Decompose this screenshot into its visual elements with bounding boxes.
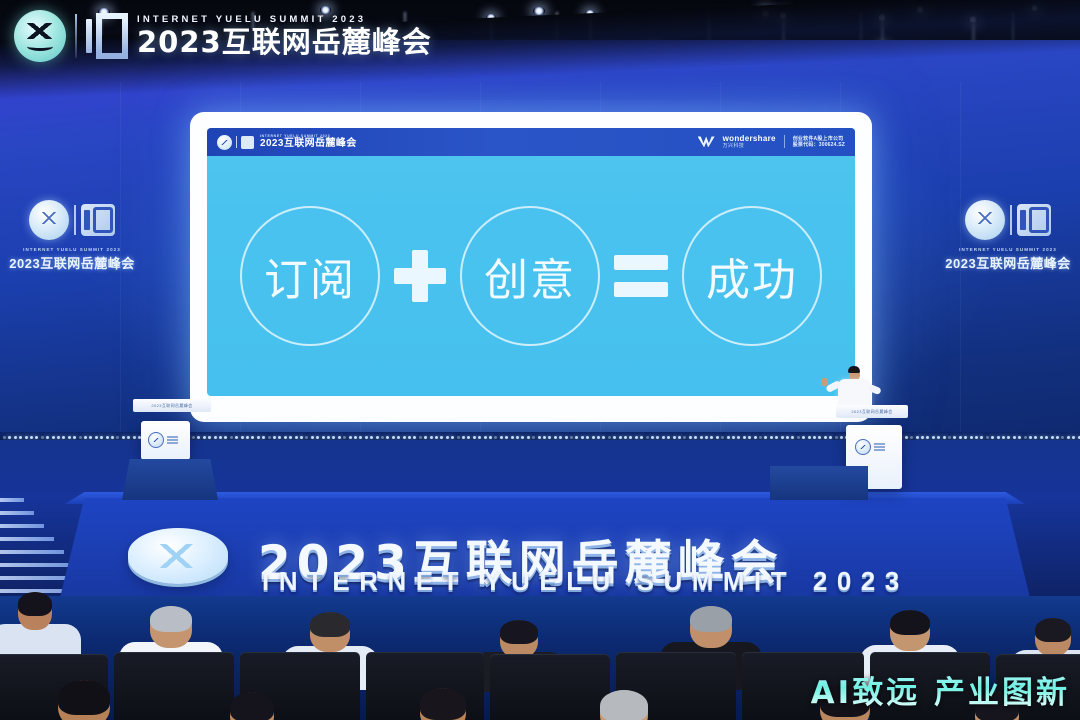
led-dot — [192, 436, 195, 439]
led-dot — [57, 436, 60, 439]
led-dot — [14, 436, 17, 439]
slide-banner-cn: 2023互联网岳麓峰会 — [260, 139, 357, 149]
led-dot — [354, 436, 357, 439]
led-dot — [662, 436, 665, 439]
equation-term-1-label: 订阅 — [264, 244, 356, 308]
slide-equation: 订阅 创意 成功 — [207, 156, 855, 396]
side-panel-cn-right: 2023互联网岳麓峰会 — [944, 253, 1072, 272]
right-podium-base — [770, 466, 868, 500]
left-podium-emblem — [148, 432, 178, 448]
side-panel-en-left: INTERNET YUELU SUMMIT 2023 — [8, 247, 136, 252]
led-dot — [678, 436, 681, 439]
led-dot — [1051, 436, 1054, 439]
led-dot — [937, 436, 940, 439]
led-dot — [791, 436, 794, 439]
logo-emblem-right — [944, 200, 1072, 240]
led-dot — [403, 436, 406, 439]
led-dot — [764, 436, 767, 439]
led-dot — [527, 436, 530, 439]
led-dot — [910, 436, 913, 439]
led-dot — [835, 436, 838, 439]
led-dot — [19, 436, 22, 439]
led-dot — [597, 436, 600, 439]
led-dot — [926, 436, 929, 439]
led-dot — [656, 436, 659, 439]
led-dot — [646, 436, 649, 439]
led-dot — [500, 436, 503, 439]
led-dot — [608, 436, 611, 439]
led-dot — [1034, 436, 1037, 439]
led-dot — [781, 436, 784, 439]
led-dot — [905, 436, 908, 439]
side-panel-cn-left: 2023互联网岳麓峰会 — [8, 253, 136, 272]
led-dot — [624, 436, 627, 439]
led-dot — [246, 436, 249, 439]
led-dot — [413, 436, 416, 439]
led-dot — [1067, 436, 1070, 439]
led-dot — [359, 436, 362, 439]
led-dot — [295, 436, 298, 439]
led-dot — [797, 436, 800, 439]
led-dot — [419, 436, 422, 439]
led-dot — [268, 436, 271, 439]
ten-anniversary-icon — [241, 136, 254, 149]
mountain-circle-icon — [29, 200, 69, 240]
led-dot — [122, 436, 125, 439]
led-dot — [316, 436, 319, 439]
led-dot — [1040, 436, 1043, 439]
watermark-text: AI致远 产业图新 — [811, 667, 1070, 712]
led-dot — [991, 436, 994, 439]
led-dot — [116, 436, 119, 439]
led-dot — [824, 436, 827, 439]
led-dot — [592, 436, 595, 439]
sponsor-stock-block: 创业软件A股上市公司 股票代码：300624.SZ — [793, 136, 845, 149]
led-dot — [100, 436, 103, 439]
audience-member-hair — [690, 606, 732, 632]
led-dot — [953, 436, 956, 439]
led-dot — [921, 436, 924, 439]
left-podium — [141, 421, 190, 460]
equation-term-3-label: 成功 — [706, 244, 798, 308]
led-dot — [338, 436, 341, 439]
led-dot — [732, 436, 735, 439]
stair-step — [0, 524, 44, 528]
led-dot — [289, 436, 292, 439]
divider — [236, 136, 237, 148]
right-podium-sign: 2023互联网岳麓峰会 — [836, 405, 908, 418]
overlay-brand-en: INTERNET YUELU SUMMIT 2023 — [137, 15, 432, 25]
audience-member-hair — [150, 606, 192, 632]
led-dot — [89, 436, 92, 439]
sponsor-note-line2: 股票代码：300624.SZ — [793, 142, 845, 148]
led-dot — [532, 436, 535, 439]
led-dot — [478, 436, 481, 439]
led-dot — [1018, 436, 1021, 439]
ten-anniversary-icon — [81, 204, 115, 236]
led-dot — [997, 436, 1000, 439]
led-dot — [802, 436, 805, 439]
led-dot — [219, 436, 222, 439]
led-dot — [554, 436, 557, 439]
mountain-circle-icon — [148, 432, 164, 448]
led-dot — [948, 436, 951, 439]
led-dot — [1061, 436, 1064, 439]
led-dot — [451, 436, 454, 439]
led-dot — [548, 436, 551, 439]
led-dot — [975, 436, 978, 439]
led-dot — [273, 436, 276, 439]
led-dot — [127, 436, 130, 439]
led-dot — [775, 436, 778, 439]
led-dot — [986, 436, 989, 439]
side-panel-logo-left: INTERNET YUELU SUMMIT 2023 2023互联网岳麓峰会 — [8, 200, 136, 272]
led-dot — [8, 436, 11, 439]
side-panel-en-right: INTERNET YUELU SUMMIT 2023 — [944, 247, 1072, 252]
led-dot — [381, 436, 384, 439]
equation-term-2: 创意 — [460, 206, 600, 346]
led-dot — [581, 436, 584, 439]
led-dot — [230, 436, 233, 439]
led-dot — [214, 436, 217, 439]
led-dot — [322, 436, 325, 439]
led-dot — [673, 436, 676, 439]
overlay-brand-text: INTERNET YUELU SUMMIT 2023 2023互联网岳麓峰会 — [137, 15, 432, 57]
equals-icon — [614, 254, 668, 298]
led-dot — [516, 436, 519, 439]
led-dot — [602, 436, 605, 439]
conference-photo: INTERNET YUELU SUMMIT 2023 2023互联网岳麓峰会 I… — [0, 0, 1080, 720]
led-dot — [964, 436, 967, 439]
slide-banner-title: INTERNET YUELU SUMMIT 2023 2023互联网岳麓峰会 — [260, 135, 357, 149]
led-dot — [1029, 436, 1032, 439]
led-dot — [440, 436, 443, 439]
led-dot — [343, 436, 346, 439]
mountain-circle-icon — [965, 200, 1005, 240]
led-dot — [1013, 436, 1016, 439]
led-dot — [489, 436, 492, 439]
led-dot — [25, 436, 28, 439]
slide-top-banner: INTERNET YUELU SUMMIT 2023 2023互联网岳麓峰会 w… — [207, 128, 855, 156]
led-dot — [640, 436, 643, 439]
mountain-circle-icon — [217, 135, 232, 150]
sponsor-name-block: wondershare 万兴科技 — [723, 135, 776, 149]
led-dot — [959, 436, 962, 439]
led-dot — [262, 436, 265, 439]
plus-icon — [394, 250, 446, 302]
led-dot — [467, 436, 470, 439]
led-dot — [3, 436, 6, 439]
logo-emblem-left — [8, 200, 136, 240]
led-dot — [278, 436, 281, 439]
led-dot — [565, 436, 568, 439]
stair-step — [0, 563, 74, 567]
audience-member-hair — [500, 620, 538, 644]
led-dot — [41, 436, 44, 439]
led-dot — [305, 436, 308, 439]
led-dot — [392, 436, 395, 439]
led-dot — [613, 436, 616, 439]
led-dot — [208, 436, 211, 439]
led-dot — [980, 436, 983, 439]
led-dot — [365, 436, 368, 439]
led-dot — [311, 436, 314, 439]
mountain-circle-icon — [14, 10, 66, 62]
divider — [1010, 205, 1012, 235]
led-dot — [73, 436, 76, 439]
led-dot — [52, 436, 55, 439]
audience-seat — [490, 654, 610, 720]
led-dot — [1045, 436, 1048, 439]
side-panel-logo-right: INTERNET YUELU SUMMIT 2023 2023互联网岳麓峰会 — [944, 200, 1072, 272]
led-dot — [284, 436, 287, 439]
led-dot — [1024, 436, 1027, 439]
divider — [74, 205, 76, 235]
led-dot — [473, 436, 476, 439]
led-dot — [349, 436, 352, 439]
led-dot — [943, 436, 946, 439]
led-dot — [619, 436, 622, 439]
led-dot — [543, 436, 546, 439]
led-dot — [484, 436, 487, 439]
led-dot — [35, 436, 38, 439]
led-dot — [494, 436, 497, 439]
wondershare-logo-icon — [698, 136, 715, 147]
overlay-brand-cn: 2023互联网岳麓峰会 — [137, 28, 432, 57]
led-dot — [511, 436, 514, 439]
led-dot — [370, 436, 373, 439]
led-dot — [710, 436, 713, 439]
led-dot — [203, 436, 206, 439]
stage-mountain-logo-icon — [128, 528, 228, 584]
led-dot — [257, 436, 260, 439]
led-dot — [667, 436, 670, 439]
speaker-hair — [848, 366, 860, 373]
led-dot — [327, 436, 330, 439]
led-dot — [575, 436, 578, 439]
stair-step — [0, 511, 34, 515]
led-dot — [224, 436, 227, 439]
led-dot — [197, 436, 200, 439]
led-dot — [916, 436, 919, 439]
audience-member-hair — [310, 612, 350, 637]
led-dot — [376, 436, 379, 439]
left-podium-base — [122, 459, 218, 500]
led-dot — [700, 436, 703, 439]
stair-step — [0, 537, 54, 541]
audience-member-hair — [18, 592, 52, 616]
audience-member-hair — [1035, 618, 1071, 642]
led-dot — [829, 436, 832, 439]
led-dot — [424, 436, 427, 439]
slide-content: INTERNET YUELU SUMMIT 2023 2023互联网岳麓峰会 w… — [207, 128, 855, 396]
right-podium-emblem — [855, 439, 885, 455]
led-dot — [84, 436, 87, 439]
led-dot — [635, 436, 638, 439]
led-dot — [721, 436, 724, 439]
led-dot — [521, 436, 524, 439]
led-dot — [683, 436, 686, 439]
led-dot — [111, 436, 114, 439]
sponsor-block: wondershare 万兴科技 创业软件A股上市公司 股票代码：300624.… — [698, 135, 845, 149]
led-dot — [629, 436, 632, 439]
led-dot — [538, 436, 541, 439]
stair-step — [0, 498, 24, 502]
led-dot — [106, 436, 109, 439]
led-dot — [970, 436, 973, 439]
led-dot — [435, 436, 438, 439]
led-dot — [559, 436, 562, 439]
led-dot — [694, 436, 697, 439]
led-dot — [251, 436, 254, 439]
equation-term-2-label: 创意 — [484, 244, 576, 308]
led-dot — [932, 436, 935, 439]
audience-member-hair — [890, 610, 930, 635]
led-dot — [689, 436, 692, 439]
led-dot — [235, 436, 238, 439]
led-dot — [716, 436, 719, 439]
led-dot — [332, 436, 335, 439]
led-dot — [808, 436, 811, 439]
led-dot — [505, 436, 508, 439]
led-dot — [770, 436, 773, 439]
led-dot — [462, 436, 465, 439]
led-dot — [386, 436, 389, 439]
led-dot — [46, 436, 49, 439]
led-dot — [748, 436, 751, 439]
left-podium-sign: 2023互联网岳麓峰会 — [133, 399, 211, 412]
led-dot — [68, 436, 71, 439]
led-dot — [759, 436, 762, 439]
led-dot — [840, 436, 843, 439]
led-dot — [457, 436, 460, 439]
presentation-screen: INTERNET YUELU SUMMIT 2023 2023互联网岳麓峰会 w… — [190, 112, 872, 422]
audience-member-hair — [58, 680, 110, 715]
overlay-brand: INTERNET YUELU SUMMIT 2023 2023互联网岳麓峰会 — [14, 10, 432, 62]
ten-anniversary-icon — [86, 15, 128, 57]
audience-seat — [114, 652, 234, 720]
led-dot — [743, 436, 746, 439]
led-dot — [727, 436, 730, 439]
led-dot — [300, 436, 303, 439]
divider — [784, 135, 785, 148]
led-dot — [408, 436, 411, 439]
led-dot — [133, 436, 136, 439]
stage-title-en: INTERNET YUELU SUMMIT 2023 — [262, 566, 909, 597]
ten-anniversary-icon — [1017, 204, 1051, 236]
sponsor-name-cn: 万兴科技 — [723, 144, 776, 149]
led-dot — [430, 436, 433, 439]
ten-anniversary-icon — [167, 436, 178, 444]
led-dot — [1002, 436, 1005, 439]
equation-term-3: 成功 — [682, 206, 822, 346]
led-dot — [818, 436, 821, 439]
ten-anniversary-icon — [874, 443, 885, 451]
divider — [75, 14, 77, 58]
audience-member-hair — [230, 692, 274, 720]
audience-member-hair — [420, 688, 466, 720]
led-dot — [705, 436, 708, 439]
led-dot — [95, 436, 98, 439]
led-dot — [1072, 436, 1075, 439]
led-dot — [570, 436, 573, 439]
led-dot — [62, 436, 65, 439]
led-dot — [786, 436, 789, 439]
led-dot — [1056, 436, 1059, 439]
led-dot — [813, 436, 816, 439]
led-dot — [754, 436, 757, 439]
equation-term-1: 订阅 — [240, 206, 380, 346]
led-dot — [79, 436, 82, 439]
slide-banner-logo: INTERNET YUELU SUMMIT 2023 2023互联网岳麓峰会 — [217, 135, 357, 150]
led-dot — [586, 436, 589, 439]
led-dot — [397, 436, 400, 439]
led-dot — [1007, 436, 1010, 439]
led-dot — [30, 436, 33, 439]
led-dot — [737, 436, 740, 439]
mountain-circle-icon — [855, 439, 871, 455]
led-dot — [241, 436, 244, 439]
speaker-left-hand — [821, 378, 828, 386]
audience-member-hair — [600, 690, 648, 720]
led-dot — [651, 436, 654, 439]
stair-step — [0, 550, 64, 554]
led-dot — [446, 436, 449, 439]
